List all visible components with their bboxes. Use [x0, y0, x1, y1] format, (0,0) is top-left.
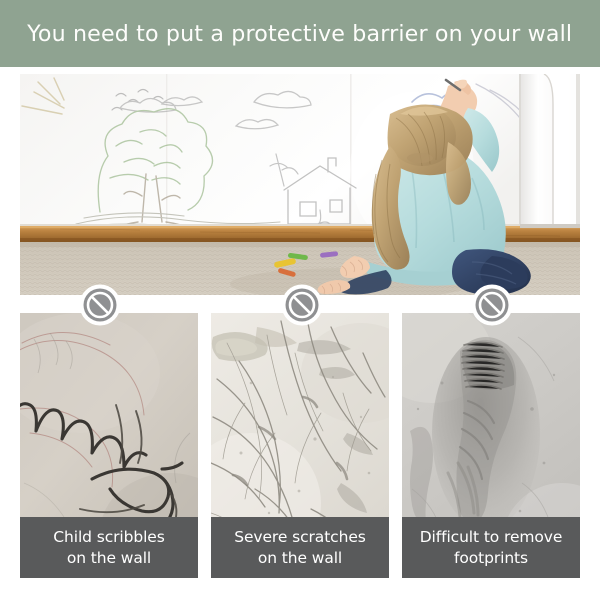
caption-line-2: on the wall: [258, 548, 342, 569]
caption-line-1: Severe scratches: [234, 527, 365, 548]
page-title: You need to put a protective barrier on …: [27, 21, 572, 47]
caption-line-1: Difficult to remove: [420, 527, 563, 548]
promo-page: You need to put a protective barrier on …: [0, 0, 600, 600]
caption-line-1: Child scribbles: [53, 527, 164, 548]
panel-footprints: Difficult to remove footprints: [402, 313, 580, 578]
no-entry-icon: [471, 284, 513, 326]
panel-child-scribbles: Child scribbles on the wall: [20, 313, 198, 578]
prohibition-badge-3: [471, 284, 513, 326]
no-entry-icon: [281, 284, 323, 326]
hero-image: [20, 74, 580, 295]
panel-caption-footprints: Difficult to remove footprints: [402, 517, 580, 578]
panel-caption-severe-scratches: Severe scratches on the wall: [211, 517, 389, 578]
panel-caption-child-scribbles: Child scribbles on the wall: [20, 517, 198, 578]
problem-panels: Child scribbles on the wall: [20, 313, 580, 578]
no-entry-icon: [79, 284, 121, 326]
caption-line-2: footprints: [454, 548, 528, 569]
panel-severe-scratches: Severe scratches on the wall: [211, 313, 389, 578]
hero-illustration: [20, 74, 580, 295]
prohibition-badge-2: [281, 284, 323, 326]
caption-line-2: on the wall: [67, 548, 151, 569]
prohibition-badge-1: [79, 284, 121, 326]
header-banner: You need to put a protective barrier on …: [0, 0, 600, 67]
